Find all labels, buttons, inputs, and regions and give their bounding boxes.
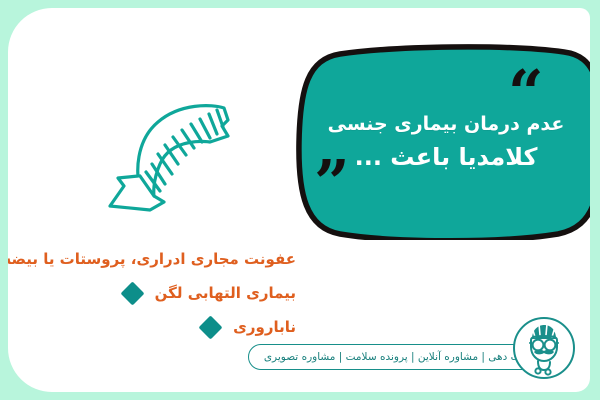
list-item: ناباروری bbox=[14, 318, 296, 336]
list-item-label: بیماری التهابی لگن bbox=[155, 284, 296, 302]
footer-nav-label: نوبت دهی | مشاوره آنلاین | پرونده سلامت … bbox=[264, 351, 532, 363]
list-item: عفونت مجاری ادراری، پروستات یا بیضه‌ها bbox=[14, 250, 296, 268]
list-item: بیماری التهابی لگن bbox=[14, 284, 296, 302]
doctor-mascot-icon[interactable] bbox=[513, 317, 575, 379]
list-item-label: عفونت مجاری ادراری، پروستات یا بیضه‌ها bbox=[8, 250, 296, 268]
infographic-canvas: عدم درمان بیماری جنسی کلامدیا باعث ... “… bbox=[0, 0, 600, 400]
footer-nav-pill[interactable]: نوبت دهی | مشاوره آنلاین | پرونده سلامت … bbox=[248, 344, 548, 370]
symptom-list: عفونت مجاری ادراری، پروستات یا بیضه‌ها ب… bbox=[14, 250, 296, 336]
striped-ribbon-arrow-icon bbox=[104, 90, 234, 212]
diamond-bullet-icon bbox=[120, 281, 144, 305]
close-quote-icon: ” bbox=[314, 152, 350, 214]
content-card: عدم درمان بیماری جنسی کلامدیا باعث ... “… bbox=[8, 8, 590, 392]
diamond-bullet-icon bbox=[199, 315, 223, 339]
list-item-label: ناباروری bbox=[233, 318, 296, 336]
quote-speech-bubble: عدم درمان بیماری جنسی کلامدیا باعث ... “… bbox=[296, 44, 590, 240]
open-quote-icon: “ bbox=[508, 62, 544, 124]
